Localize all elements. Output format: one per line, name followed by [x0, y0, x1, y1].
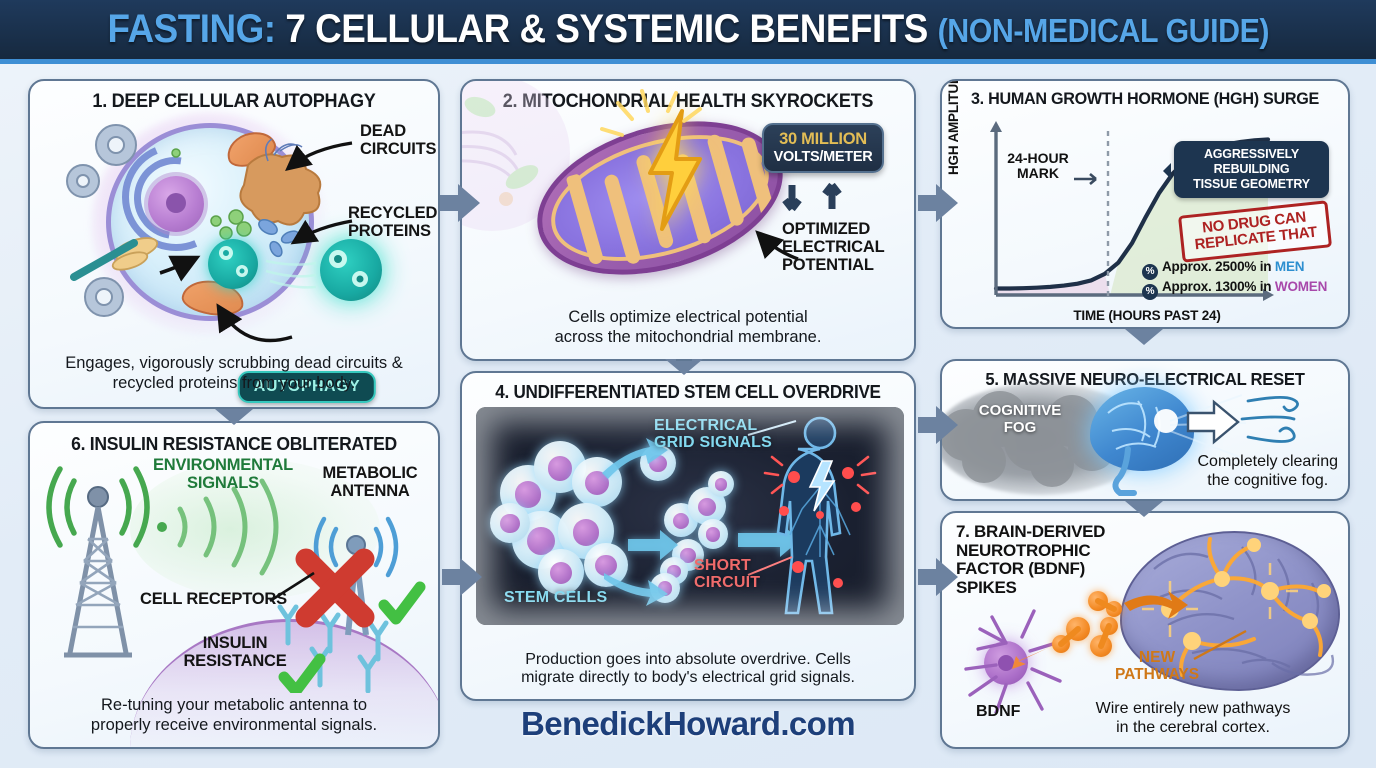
- stem-cell-icon: [660, 557, 688, 585]
- stat-women-word: WOMEN: [1275, 279, 1327, 294]
- callout-rebuilding-tissue: AGGRESSIVELY REBUILDING TISSUE GEOMETRY: [1174, 141, 1329, 198]
- panel-2-caption: Cells optimize electrical potential acro…: [476, 308, 900, 347]
- stem-cell-icon: [572, 457, 622, 507]
- stem-cell-icon: [688, 487, 726, 525]
- label-electrical-grid-signals: ELECTRICAL GRID SIGNALS: [654, 417, 772, 452]
- panel-mitochondrial-health[interactable]: 2. MITOCHONDRIAL HEALTH SKYROCKETS: [460, 79, 916, 361]
- label-recycled-proteins: RECYCLED PROTEINS: [348, 205, 437, 241]
- stem-cell-icon: [490, 503, 530, 543]
- stem-cell-icon: [584, 543, 628, 587]
- footer-brand[interactable]: BenedickHoward.com: [460, 705, 916, 743]
- stem-cell-icon: [650, 573, 680, 603]
- label-optimized-electrical-potential: OPTIMIZED ELECTRICAL POTENTIAL: [782, 221, 885, 274]
- bdnf-illustration: NEW PATHWAYS: [942, 513, 1350, 713]
- panel-insulin-resistance[interactable]: 6. INSULIN RESISTANCE OBLITERATED: [28, 421, 440, 749]
- optimization-arrows: [462, 81, 916, 311]
- chart-fill-pre24: [996, 274, 1110, 295]
- volts-unit: VOLTS/METER: [768, 149, 878, 165]
- stem-cell-icon: [512, 511, 570, 569]
- panel-bdnf-spikes[interactable]: 7. BRAIN-DERIVED NEUROTROPHIC FACTOR (BD…: [940, 511, 1350, 749]
- panel-7-caption: Wire entirely new pathways in the cerebr…: [1048, 699, 1338, 737]
- stem-cell-icon: [664, 503, 698, 537]
- human-body-icon: [476, 407, 904, 625]
- label-environmental-signals: ENVIRONMENTAL SIGNALS: [128, 457, 318, 493]
- panel-4-caption: Production goes into absolute overdrive.…: [474, 651, 902, 688]
- marker-24-hour-arrow: [1074, 174, 1096, 184]
- page-header: FASTING: 7 CELLULAR & SYSTEMIC BENEFITS …: [0, 0, 1376, 64]
- label-insulin-resistance: INSULIN RESISTANCE: [180, 635, 290, 671]
- panel-stem-cell-overdrive[interactable]: 4. UNDIFFERENTIATED STEM CELL OVERDRIVE: [460, 371, 916, 701]
- panel-4-title: 4. UNDIFFERENTIATED STEM CELL OVERDRIVE: [473, 382, 902, 403]
- label-cognitive-fog: COGNITIVE FOG: [970, 403, 1070, 436]
- stat-men-word: MEN: [1275, 259, 1304, 274]
- stem-cell-icon: [640, 445, 676, 481]
- label-bdnf: BDNF: [976, 703, 1020, 721]
- cell-illustration: DEAD CIRCUITS RECYCLED PROTEINS: [30, 81, 440, 351]
- stem-cell-icon: [538, 549, 584, 595]
- percent-chip-icon: %: [1142, 264, 1158, 280]
- page-title: FASTING: 7 CELLULAR & SYSTEMIC BENEFITS …: [107, 7, 1269, 52]
- panel-neuro-electrical-reset[interactable]: 5. MASSIVE NEURO-ELECTRICAL RESET: [940, 359, 1350, 501]
- panel-1-caption: Engages, vigorously scrubbing dead circu…: [44, 354, 424, 393]
- stem-cell-icon: [672, 539, 704, 571]
- leader-lines: [476, 407, 904, 625]
- title-part-main: 7 CELLULAR & SYSTEMIC BENEFITS: [285, 7, 928, 51]
- label-dead-circuits: DEAD CIRCUITS: [360, 123, 436, 159]
- panel-3-title: 3. HUMAN GROWTH HORMONE (HGH) SURGE: [952, 89, 1338, 109]
- arrow-panel3-to-panel5: [1125, 329, 1163, 345]
- label-metabolic-antenna: METABOLIC ANTENNA: [308, 465, 432, 501]
- infographic-board: 1. DEEP CELLULAR AUTOPHAGY: [0, 69, 1376, 768]
- hgh-chart: HGH AMPLITUDE TIME (HOURS PAST 24) 24-HO…: [942, 113, 1350, 327]
- stem-cell-icon: [708, 471, 734, 497]
- stat-men: %Approx. 2500% in MEN: [1142, 259, 1304, 280]
- stem-cell-icon: [698, 519, 728, 549]
- percent-chip-icon: %: [1142, 284, 1158, 300]
- title-part-subtitle: (NON-MEDICAL GUIDE): [937, 12, 1268, 49]
- chart-y-axis-label: HGH AMPLITUDE: [946, 79, 961, 175]
- stem-cell-illustration: ELECTRICAL GRID SIGNALS STEM CELLS SHORT…: [476, 407, 904, 625]
- label-cell-receptors: CELL RECEPTORS: [140, 591, 287, 609]
- mitochondria-illustration: 30 MILLION VOLTS/METER OPTIMIZED ELECTRI…: [462, 81, 916, 311]
- title-part-fasting: FASTING:: [107, 7, 275, 51]
- antenna-illustration: ENVIRONMENTAL SIGNALS METABOLIC ANTENNA …: [30, 423, 440, 693]
- arrow-right-icon: [476, 407, 904, 625]
- label-stem-cells: STEM CELLS: [504, 589, 607, 606]
- panel-5-caption: Completely clearing the cognitive fog.: [1197, 453, 1338, 491]
- volts-badge: 30 MILLION VOLTS/METER: [762, 123, 884, 173]
- label-short-circuit: SHORT CIRCUIT: [694, 557, 760, 592]
- panel-6-caption: Re-tuning your metabolic antenna to prop…: [42, 696, 426, 735]
- stat-women: %Approx. 1300% in WOMEN: [1142, 279, 1327, 300]
- stem-cell-icon: [534, 441, 586, 493]
- stem-cell-icon: [500, 465, 556, 521]
- volts-value: 30 MILLION: [768, 130, 878, 149]
- panel-hgh-surge-chart[interactable]: 3. HUMAN GROWTH HORMONE (HGH) SURGE: [940, 79, 1350, 329]
- label-new-pathways: NEW PATHWAYS: [1102, 649, 1212, 683]
- label-24-hour-mark: 24-HOUR MARK: [1000, 151, 1076, 181]
- panel-deep-cellular-autophagy[interactable]: 1. DEEP CELLULAR AUTOPHAGY: [28, 79, 440, 409]
- stem-cell-icon: [558, 503, 614, 559]
- chart-x-axis-label: TIME (HOURS PAST 24): [942, 308, 1350, 323]
